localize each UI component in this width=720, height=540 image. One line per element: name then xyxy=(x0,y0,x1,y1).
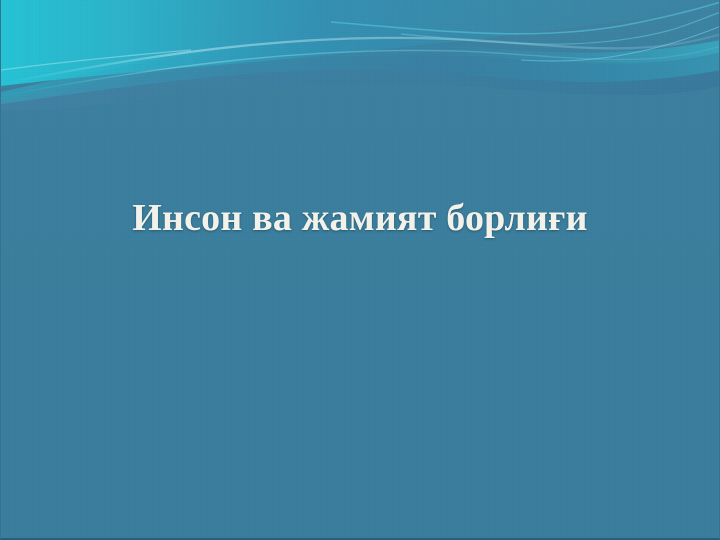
title-placeholder[interactable]: Инсон ва жамият борлиғи xyxy=(1,196,719,241)
slide-background xyxy=(1,0,719,538)
presentation-slide: Инсон ва жамият борлиғи xyxy=(0,0,720,540)
slide-title: Инсон ва жамият борлиғи xyxy=(132,196,587,241)
